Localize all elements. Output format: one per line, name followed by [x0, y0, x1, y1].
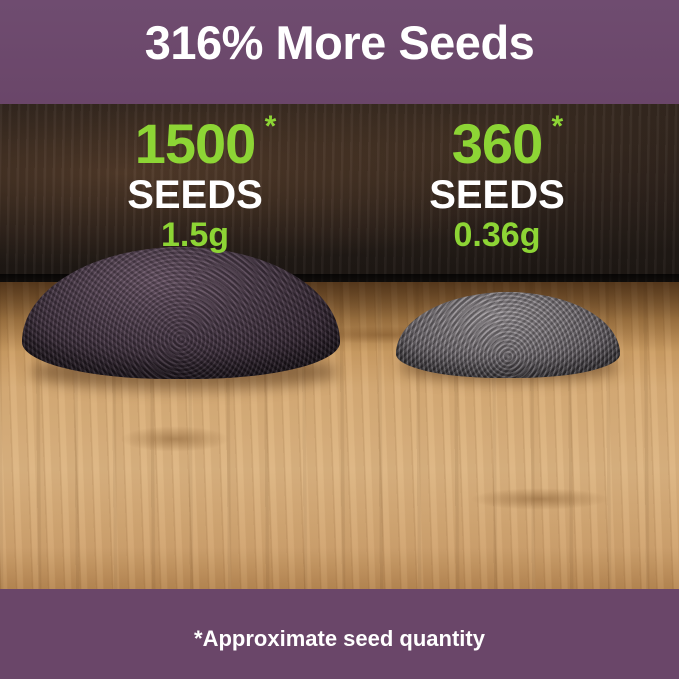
wood-knot-icon [120, 426, 230, 452]
seed-count-home-value: 1500 [135, 112, 256, 175]
seed-count-other: 360 * [452, 116, 542, 172]
seeds-unit-other: SEEDS [352, 174, 642, 216]
seed-count-other-value: 360 [452, 112, 542, 175]
asterisk-icon: * [265, 112, 276, 142]
wood-knot-icon [470, 488, 610, 510]
stat-block-other-brand: 360 * SEEDS 0.36g [352, 116, 642, 254]
stat-block-home-grown: 1500 * SEEDS 1.5g [50, 116, 340, 254]
footnote-text: *Approximate seed quantity [0, 626, 679, 652]
seeds-unit-home: SEEDS [50, 174, 340, 216]
product-comparison-infographic: 316% More Seeds 1500 * SEEDS 1.5g 360 * … [0, 0, 679, 679]
weight-home: 1.5g [50, 217, 340, 254]
asterisk-icon: * [552, 112, 563, 142]
seed-count-home: 1500 * [135, 116, 256, 172]
stats-overlay: 1500 * SEEDS 1.5g 360 * SEEDS 0.36g [0, 96, 679, 286]
page-title: 316% More Seeds [0, 18, 679, 67]
weight-other: 0.36g [352, 217, 642, 254]
